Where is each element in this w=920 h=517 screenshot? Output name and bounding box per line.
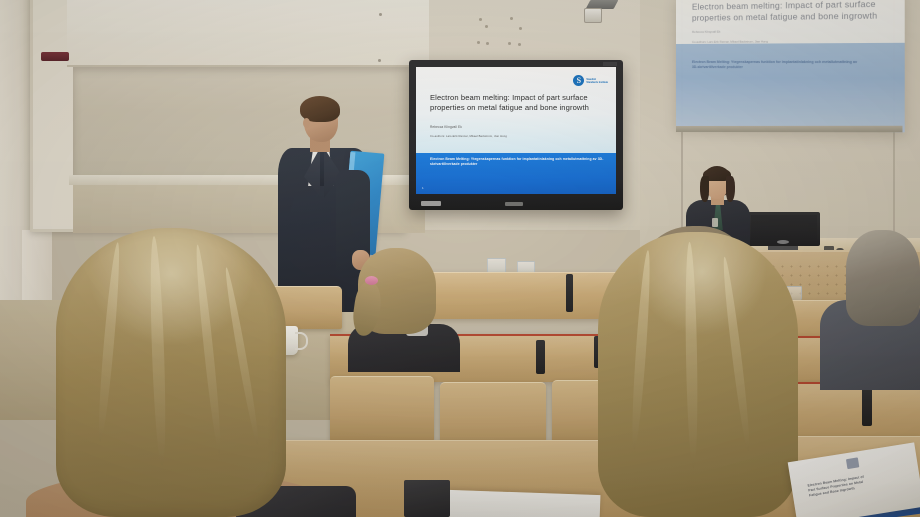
projected-slide-author: Rebecca Klingvall Ek <box>692 30 720 34</box>
slide-author: Rebecca Klingvall Ek <box>430 125 462 129</box>
desktop-monitor <box>748 212 820 246</box>
tv-screen: S Swedish Standards Institute Electron b… <box>416 67 616 194</box>
marker-icon <box>41 52 69 61</box>
hair-strand <box>95 242 122 442</box>
monitor-screen <box>751 215 817 240</box>
tv-brand-tag <box>603 62 617 66</box>
bench-divider <box>566 274 573 312</box>
title-slide: S Swedish Standards Institute Electron b… <box>416 67 616 194</box>
slide-number: 1 <box>422 186 424 190</box>
logo-text: Swedish Standards Institute <box>586 78 608 84</box>
projected-slide-subtitle: Electron Beam Melting: Ytegenskapernas f… <box>692 60 860 71</box>
organization-logo: S Swedish Standards Institute <box>573 75 608 86</box>
screw-icon <box>479 18 482 21</box>
handout-logo-icon <box>846 457 859 469</box>
handout-title: Electron Beam Melting: Impact of Part Su… <box>807 468 908 499</box>
presenter-ear <box>303 118 310 128</box>
hair-strand <box>222 267 261 446</box>
slide-subtitle-swedish: Electron Beam Melting: Ytegenskapernas f… <box>430 157 608 167</box>
foreground-laptop <box>404 480 450 517</box>
slide-coauthors: Co-authors: Lars-Erik Rannar, Mikael Bac… <box>430 135 507 138</box>
logo-mark-icon: S <box>573 75 584 86</box>
seat-back <box>440 382 546 449</box>
audience-head-blonde-left <box>56 228 286 517</box>
screw-icon <box>477 41 480 44</box>
moderator-badge <box>712 218 718 227</box>
hair-strand <box>148 236 168 466</box>
lecture-hall-photo: Electron beam melting: Impact of part su… <box>0 0 920 517</box>
bench-divider <box>862 388 872 426</box>
projected-slide-coauthors: Co-authors: Lars-Erik Rannar, Mikael Bac… <box>692 39 768 44</box>
hair-strand <box>684 242 699 468</box>
projected-screen-frame <box>676 126 902 132</box>
tv-label-icon <box>421 201 441 206</box>
ceiling-sensor-icon <box>584 8 602 23</box>
seat-back <box>330 376 434 441</box>
monitor-brand-logo-icon <box>777 240 789 244</box>
projected-slide-title: Electron beam melting: Impact of part su… <box>692 0 882 25</box>
screw-icon <box>485 25 488 28</box>
projected-slide-band <box>676 42 905 132</box>
screw-icon <box>510 17 513 20</box>
pink-hair-tie <box>365 276 378 285</box>
screw-icon <box>486 42 489 45</box>
moderator-hair-side <box>726 176 735 202</box>
tv-logo-icon <box>505 202 523 206</box>
slide-title: Electron beam melting: Impact of part su… <box>430 93 602 114</box>
screw-icon <box>519 27 522 30</box>
whiteboard-upper-panel <box>67 0 429 67</box>
logo-text-line2: Standards Institute <box>586 81 608 84</box>
flat-panel-display: S Swedish Standards Institute Electron b… <box>409 60 623 210</box>
audience-head-ponytail <box>352 248 444 364</box>
audience-head-blonde-right <box>598 232 798 517</box>
hair-strand <box>629 250 653 450</box>
moderator-hair-side <box>700 176 709 202</box>
hair-strand <box>193 244 224 454</box>
bench-divider <box>536 340 545 374</box>
screw-icon <box>379 13 382 16</box>
screw-icon <box>508 42 511 45</box>
projected-screen: Electron beam melting: Impact of part su… <box>676 0 905 132</box>
hair-strand <box>720 256 753 452</box>
screw-icon <box>518 43 521 46</box>
audience-head-grey <box>846 230 920 326</box>
screw-icon <box>378 59 381 62</box>
